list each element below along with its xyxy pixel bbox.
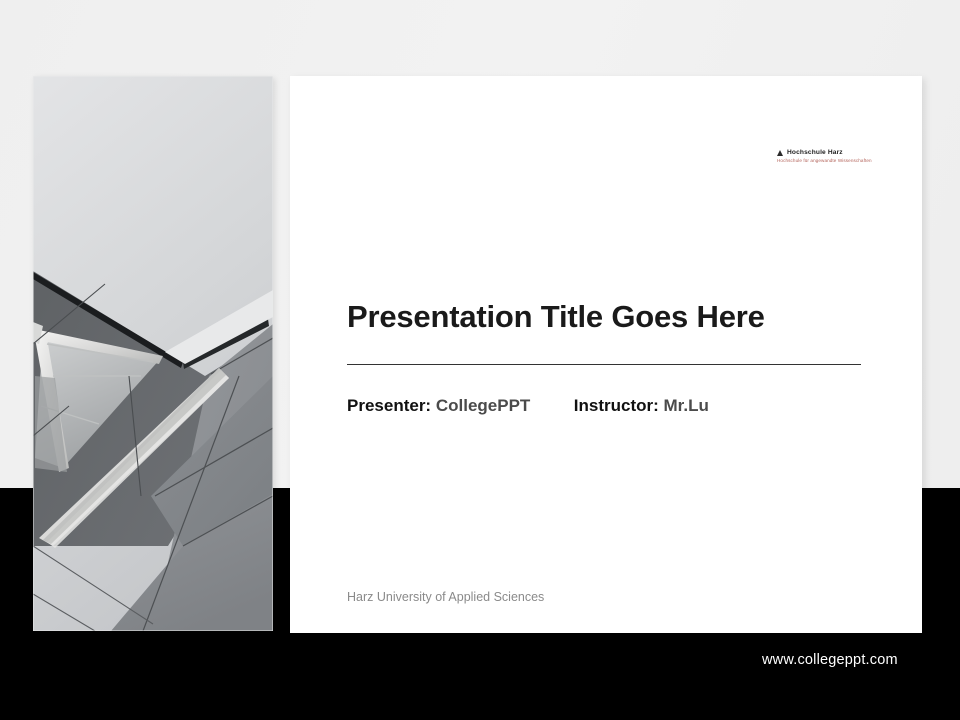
- university-logo: Hochschule Harz Hochschule für angewandt…: [777, 150, 907, 164]
- architecture-photo-graphic: [33, 76, 273, 631]
- logo-name: Hochschule Harz: [787, 150, 843, 157]
- page-title: Presentation Title Goes Here: [347, 299, 765, 335]
- instructor-label: Instructor:: [574, 396, 659, 415]
- organization-name: Harz University of Applied Sciences: [347, 590, 544, 604]
- website-url: www.collegeppt.com: [762, 652, 898, 668]
- title-divider: [347, 364, 861, 365]
- presentation-slide: Hochschule Harz Hochschule für angewandt…: [290, 76, 922, 633]
- byline: Presenter: CollegePPT Instructor: Mr.Lu: [347, 396, 709, 416]
- instructor-value: Mr.Lu: [664, 396, 709, 415]
- architecture-photo: [33, 76, 273, 631]
- page-background: Hochschule Harz Hochschule für angewandt…: [0, 0, 960, 720]
- logo-subtitle: Hochschule für angewandte Wissenschaften: [777, 159, 907, 164]
- mountain-triangle-icon: [777, 150, 783, 156]
- presenter-value: CollegePPT: [436, 396, 530, 415]
- logo-name-row: Hochschule Harz: [777, 150, 907, 157]
- presenter-label: Presenter:: [347, 396, 431, 415]
